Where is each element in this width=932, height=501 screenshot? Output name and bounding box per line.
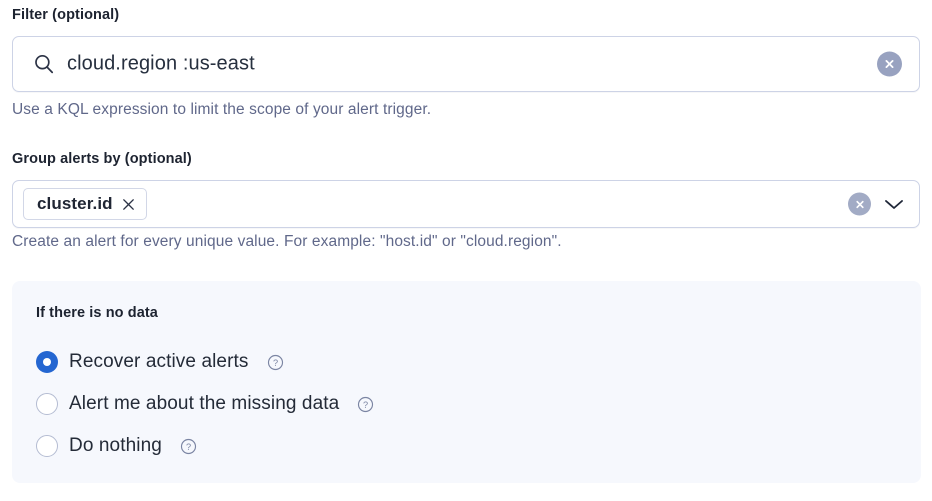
radio-mark-selected-icon	[36, 351, 58, 373]
radio-option-label: Alert me about the missing data	[69, 393, 339, 415]
filter-query-value: cloud.region :us-east	[67, 53, 255, 76]
filter-input-row: cloud.region :us-east	[12, 36, 920, 92]
question-circle-icon[interactable]: ?	[267, 354, 284, 371]
combobox-actions	[848, 193, 905, 216]
radio-mark-unselected-icon	[36, 393, 58, 415]
group-alerts-clear-button[interactable]	[848, 193, 871, 216]
filter-field-label: Filter (optional)	[12, 8, 119, 23]
remove-group-field-icon[interactable]	[122, 198, 135, 211]
svg-text:?: ?	[272, 358, 277, 368]
chevron-down-icon[interactable]	[883, 197, 905, 211]
search-icon	[33, 53, 55, 75]
radio-mark-unselected-icon	[36, 435, 58, 457]
no-data-panel: If there is no data Recover active alert…	[12, 281, 921, 483]
no-data-radio-group: Recover active alerts ? Alert me about t…	[36, 341, 896, 467]
group-field-pill-label: cluster.id	[37, 194, 113, 214]
filter-help-text: Use a KQL expression to limit the scope …	[12, 101, 431, 120]
svg-text:?: ?	[363, 400, 368, 410]
group-alerts-input-row: cluster.id	[12, 180, 920, 228]
group-alerts-combobox[interactable]: cluster.id	[12, 180, 920, 228]
group-alerts-help-text: Create an alert for every unique value. …	[12, 233, 562, 252]
svg-text:?: ?	[186, 442, 191, 452]
radio-option-label: Do nothing	[69, 435, 162, 457]
no-data-panel-title: If there is no data	[36, 305, 158, 321]
radio-option-label: Recover active alerts	[69, 351, 249, 373]
group-alerts-field-label: Group alerts by (optional)	[12, 152, 192, 167]
radio-option-do-nothing[interactable]: Do nothing ?	[36, 425, 896, 467]
filter-search-input[interactable]: cloud.region :us-east	[12, 36, 920, 92]
filter-clear-button[interactable]	[877, 52, 902, 77]
question-circle-icon[interactable]: ?	[180, 438, 197, 455]
alert-rule-form: Filter (optional) cloud.region :us-east …	[0, 0, 932, 501]
group-field-pill-cluster-id[interactable]: cluster.id	[23, 188, 147, 220]
radio-option-alert-me-about-missing-data[interactable]: Alert me about the missing data ?	[36, 383, 896, 425]
question-circle-icon[interactable]: ?	[357, 396, 374, 413]
radio-option-recover-active-alerts[interactable]: Recover active alerts ?	[36, 341, 896, 383]
